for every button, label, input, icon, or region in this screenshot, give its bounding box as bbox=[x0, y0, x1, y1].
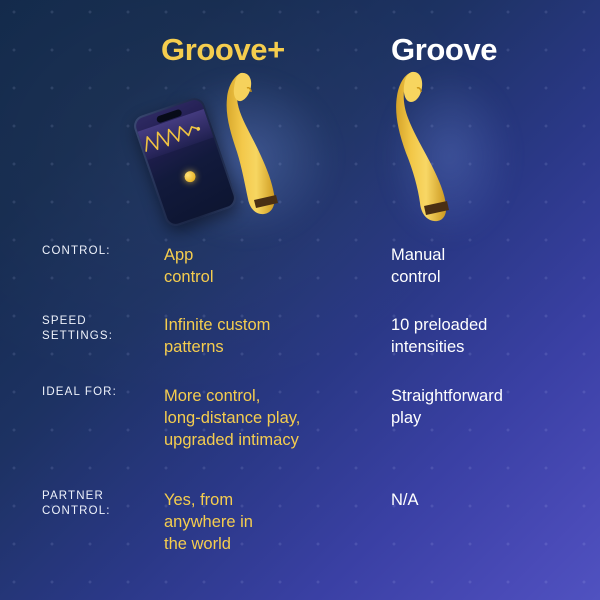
row-label-speed-settings: Speed settings: bbox=[42, 314, 162, 344]
cell-partner-groove-plus: Yes, from anywhere in the world bbox=[164, 489, 379, 555]
row-label-partner-control: Partner control: bbox=[42, 489, 162, 519]
row-label-ideal-for: Ideal for: bbox=[42, 385, 162, 400]
groove-vibrator-icon bbox=[386, 66, 478, 226]
comparison-graphic: Groove+ Groove bbox=[0, 0, 600, 600]
cell-speed-groove-plus: Infinite custom patterns bbox=[164, 314, 379, 358]
cell-speed-groove: 10 preloaded intensities bbox=[391, 314, 596, 358]
column-heading-groove-plus: Groove+ bbox=[161, 32, 285, 68]
cell-control-groove: Manual control bbox=[391, 244, 596, 288]
cell-ideal-groove-plus: More control, long-distance play, upgrad… bbox=[164, 385, 379, 451]
cell-partner-groove: N/A bbox=[391, 489, 596, 511]
row-label-control: Control: bbox=[42, 244, 162, 259]
cell-ideal-groove: Straightforward play bbox=[391, 385, 596, 429]
cell-control-groove-plus: App control bbox=[164, 244, 379, 288]
app-control-dot-icon bbox=[183, 170, 197, 184]
groove-plus-vibrator-icon bbox=[214, 68, 294, 220]
column-heading-groove: Groove bbox=[391, 32, 497, 68]
